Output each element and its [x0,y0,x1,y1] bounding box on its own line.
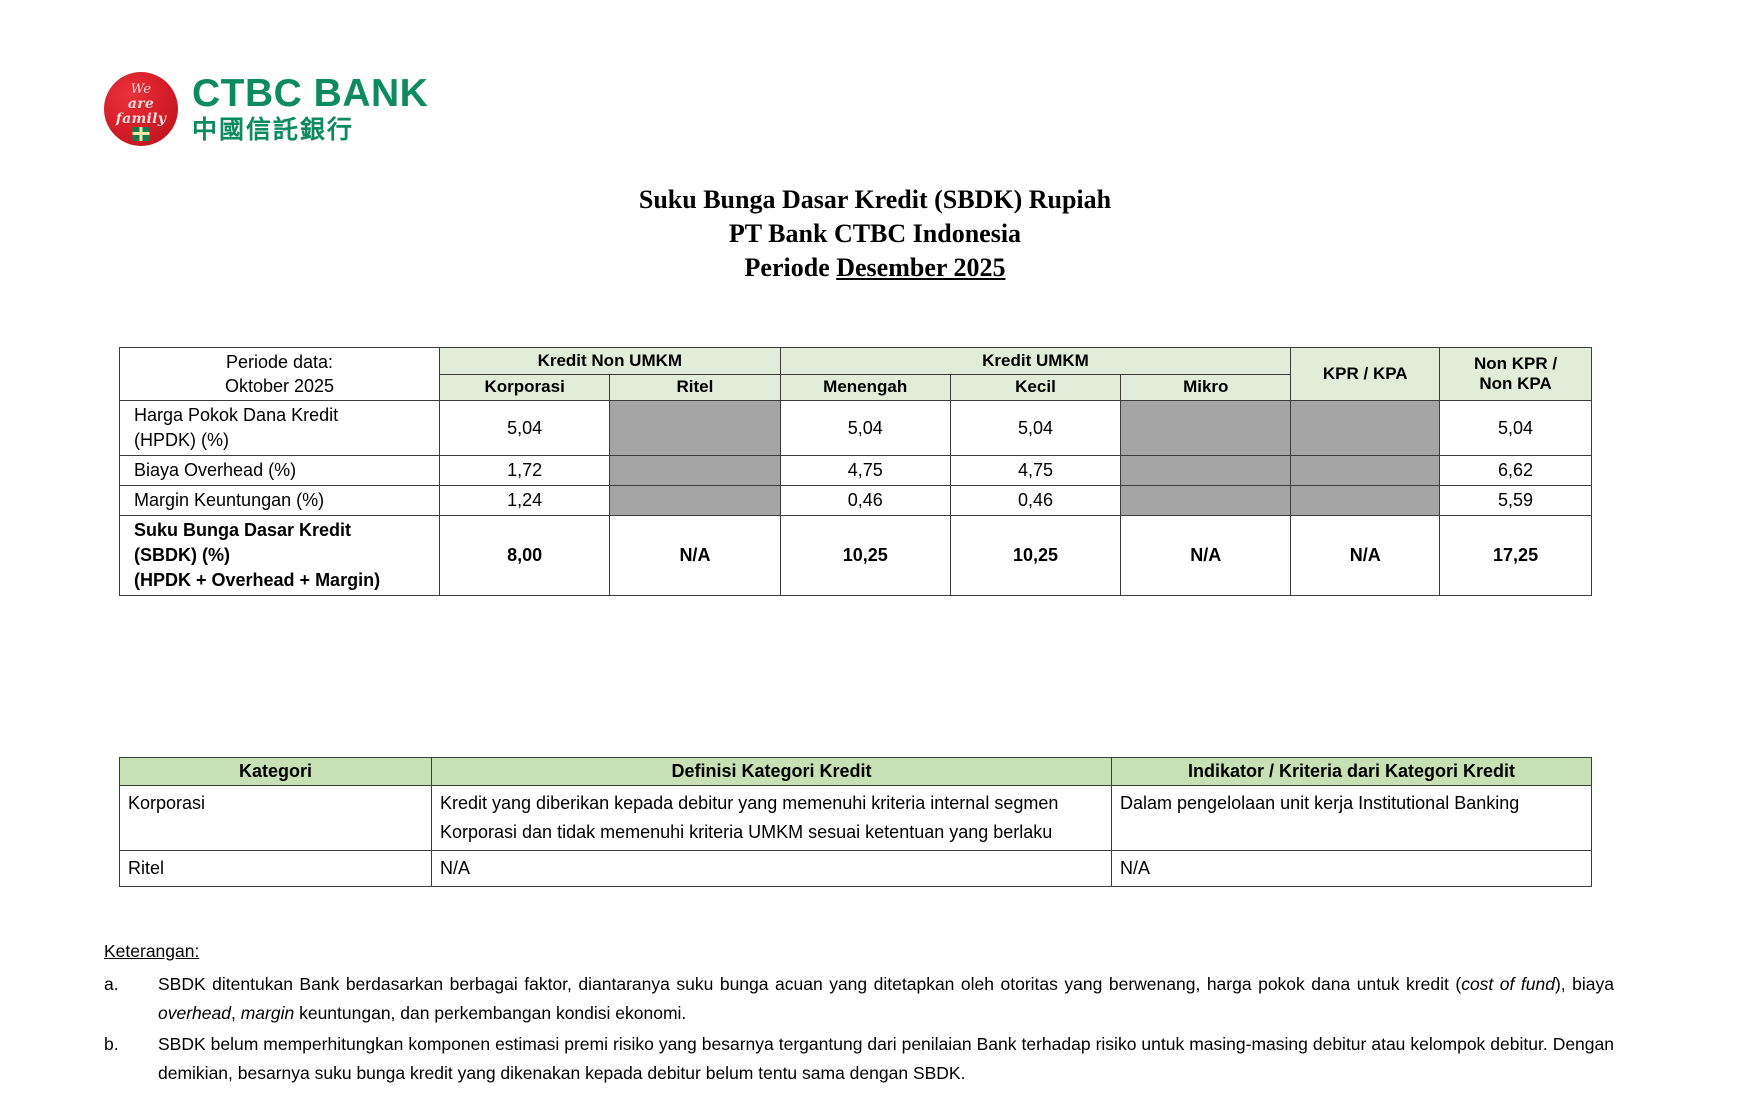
column-header-non-kpr-kpa: Non KPR / Non KPA [1440,348,1592,401]
note-text-emphasis: overhead [158,1003,231,1023]
category-table-body: KorporasiKredit yang diberikan kepada de… [120,786,1592,887]
cell-disabled [1291,486,1440,516]
cell-definisi: N/A [432,851,1112,887]
periode-data-cell: Periode data: Oktober 2025 [120,348,440,401]
note-text: SBDK belum memperhitungkan komponen esti… [158,1030,1614,1088]
cell-value: 5,04 [440,401,610,456]
page-title: Suku Bunga Dasar Kredit (SBDK) Rupiah PT… [0,183,1750,285]
cell-value: 6,62 [1440,456,1592,486]
cell-value: 0,46 [780,486,950,516]
group-header-umkm: Kredit UMKM [780,348,1291,375]
table-row: Suku Bunga Dasar Kredit(SBDK) (%)(HPDK +… [120,516,1592,596]
row-label-line: Harga Pokok Dana Kredit [134,403,433,428]
cell-disabled [1121,486,1291,516]
row-label-line: (HPDK + Overhead + Margin) [134,568,433,593]
cell-value: 4,75 [950,456,1120,486]
row-label-line: Margin Keuntungan (%) [134,488,433,513]
document-page: We are family CTBC BANK 中國信託銀行 Suku Bung… [0,0,1750,1105]
cell-kategori: Ritel [120,851,432,887]
row-label: Suku Bunga Dasar Kredit(SBDK) (%)(HPDK +… [120,516,440,596]
cell-value: 1,72 [440,456,610,486]
column-header-kecil: Kecil [950,374,1120,401]
title-line-1: Suku Bunga Dasar Kredit (SBDK) Rupiah [0,183,1750,217]
cell-value: 10,25 [780,516,950,596]
notes-heading: Keterangan: [104,937,1614,966]
row-label: Harga Pokok Dana Kredit(HPDK) (%) [120,401,440,456]
ctbc-bank-logo: We are family CTBC BANK 中國信託銀行 [104,72,428,146]
cell-disabled [610,486,780,516]
column-header-ritel: Ritel [610,374,780,401]
note-text-segment: SBDK ditentukan Bank berdasarkan berbaga… [158,974,1461,994]
cell-value: N/A [610,516,780,596]
column-header-mikro: Mikro [1121,374,1291,401]
note-text: SBDK ditentukan Bank berdasarkan berbaga… [158,970,1614,1028]
cell-value: 8,00 [440,516,610,596]
note-text-emphasis: cost of fund [1461,974,1555,994]
cell-disabled [1121,401,1291,456]
note-text-segment: SBDK belum memperhitungkan komponen esti… [158,1034,1614,1083]
table-row: RitelN/AN/A [120,851,1592,887]
cell-disabled [1121,456,1291,486]
logo-name-chinese: 中國信託銀行 [192,115,428,145]
non-kpr-line-2: Non KPA [1446,374,1585,394]
note-item: b.SBDK belum memperhitungkan komponen es… [104,1030,1614,1088]
category-header-kategori: Kategori [120,758,432,786]
note-text-segment: ), biaya [1555,974,1614,994]
we-are-family-script: We are family [104,82,178,127]
row-label-line: (SBDK) (%) [134,543,433,568]
logo-name-english: CTBC BANK [192,73,428,115]
cell-disabled [610,456,780,486]
cell-value: 5,04 [950,401,1120,456]
category-header-definisi: Definisi Kategori Kredit [432,758,1112,786]
row-label-line: Suku Bunga Dasar Kredit [134,518,433,543]
title-line-3: Periode Desember 2025 [0,251,1750,285]
gift-box-icon [133,127,150,141]
note-text-segment: keuntungan, dan perkembangan kondisi eko… [294,1003,686,1023]
notes-section: Keterangan: a.SBDK ditentukan Bank berda… [104,937,1614,1088]
cell-value: 5,04 [1440,401,1592,456]
cell-kategori: Korporasi [120,786,432,851]
note-text-emphasis: margin [241,1003,295,1023]
cell-value: 10,25 [950,516,1120,596]
row-label: Margin Keuntungan (%) [120,486,440,516]
row-label-line: Biaya Overhead (%) [134,458,433,483]
sbdk-rate-table: Periode data: Oktober 2025 Kredit Non UM… [119,347,1592,596]
category-header-row: Kategori Definisi Kategori Kredit Indika… [120,758,1592,786]
table-row: KorporasiKredit yang diberikan kepada de… [120,786,1592,851]
notes-list: a.SBDK ditentukan Bank berdasarkan berba… [104,970,1614,1088]
cell-value: N/A [1121,516,1291,596]
column-header-menengah: Menengah [780,374,950,401]
table-row: Margin Keuntungan (%)1,240,460,465,59 [120,486,1592,516]
category-header-indikator: Indikator / Kriteria dari Kategori Kredi… [1112,758,1592,786]
cell-indikator: Dalam pengelolaan unit kerja Institution… [1112,786,1592,851]
periode-data-line-2: Oktober 2025 [126,374,433,398]
non-kpr-line-1: Non KPR / [1446,354,1585,374]
cell-value: 17,25 [1440,516,1592,596]
title-line-2: PT Bank CTBC Indonesia [0,217,1750,251]
periode-data-line-1: Periode data: [126,350,433,374]
title-period-value: Desember 2025 [836,253,1005,282]
logo-wordmark: CTBC BANK 中國信託銀行 [192,73,428,145]
cell-disabled [1291,456,1440,486]
note-text-segment: , [231,1003,241,1023]
table-row: Biaya Overhead (%)1,724,754,756,62 [120,456,1592,486]
row-label-line: (HPDK) (%) [134,428,433,453]
cell-definisi: Kredit yang diberikan kepada debitur yan… [432,786,1112,851]
column-header-korporasi: Korporasi [440,374,610,401]
column-header-kpr-kpa: KPR / KPA [1291,348,1440,401]
ctbc-emblem-icon: We are family [104,72,178,146]
cell-value: 4,75 [780,456,950,486]
note-marker: a. [104,970,158,999]
table-row: Harga Pokok Dana Kredit(HPDK) (%)5,045,0… [120,401,1592,456]
group-header-non-umkm: Kredit Non UMKM [440,348,781,375]
category-definition-table: Kategori Definisi Kategori Kredit Indika… [119,757,1592,887]
cell-value: N/A [1291,516,1440,596]
cell-indikator: N/A [1112,851,1592,887]
cell-value: 0,46 [950,486,1120,516]
row-label: Biaya Overhead (%) [120,456,440,486]
sbdk-table-body: Harga Pokok Dana Kredit(HPDK) (%)5,045,0… [120,401,1592,596]
note-item: a.SBDK ditentukan Bank berdasarkan berba… [104,970,1614,1028]
cell-disabled [1291,401,1440,456]
cell-value: 1,24 [440,486,610,516]
note-marker: b. [104,1030,158,1059]
cell-disabled [610,401,780,456]
table-header-row-1: Periode data: Oktober 2025 Kredit Non UM… [120,348,1592,375]
cell-value: 5,04 [780,401,950,456]
title-period-prefix: Periode [745,253,837,282]
cell-value: 5,59 [1440,486,1592,516]
